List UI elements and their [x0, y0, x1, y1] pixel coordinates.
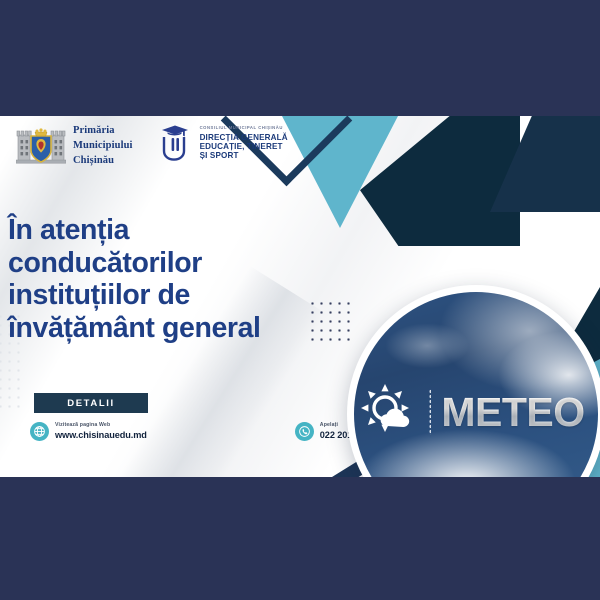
- website-contact[interactable]: Vizitează pagina Web www.chisinauedu.md: [30, 422, 147, 441]
- directia-main-text: DIRECȚIA GENERALĂ EDUCAȚIE, TINERET ȘI S…: [200, 133, 288, 160]
- primaria-line-3: Chișinău: [73, 154, 133, 169]
- phone-icon: [295, 422, 314, 441]
- directia-line-3: ȘI SPORT: [200, 151, 288, 160]
- page-title: În atenția conducătorilor instituțiilor …: [8, 214, 360, 345]
- logo-bar: Primăria Municipiului Chișinău: [16, 124, 288, 169]
- directia-logo-text: CONSILIUL MUNICIPAL CHIȘINĂU DIRECȚIA GE…: [200, 126, 288, 160]
- primaria-line-1: Primăria: [73, 124, 133, 139]
- primaria-logo: Primăria Municipiului Chișinău: [16, 124, 133, 169]
- graduation-cap-icon: [159, 124, 193, 162]
- contact-bar: Vizitează pagina Web www.chisinauedu.md …: [30, 422, 370, 441]
- headline-line-4: învățământ general: [8, 312, 360, 345]
- primaria-line-2: Municipiului: [73, 139, 133, 154]
- meteo-label: METEO: [441, 389, 584, 436]
- primaria-logo-text: Primăria Municipiului Chișinău: [73, 124, 133, 169]
- website-value: www.chisinauedu.md: [55, 430, 147, 441]
- sun-behind-cloud-icon: [359, 382, 419, 442]
- dotted-vertical-divider: [429, 389, 431, 435]
- poster-canvas: Primăria Municipiului Chișinău: [0, 0, 600, 600]
- directia-line-2: EDUCAȚIE, TINERET: [200, 142, 288, 151]
- meteo-badge[interactable]: METEO: [347, 285, 600, 477]
- website-label: Vizitează pagina Web: [55, 423, 147, 429]
- chisinau-coat-of-arms-icon: [16, 127, 66, 165]
- globe-icon: [30, 422, 49, 441]
- headline-line-2: conducătorilor: [8, 247, 360, 280]
- headline-line-1: În atenția: [8, 214, 360, 247]
- meteo-content: METEO: [359, 382, 584, 442]
- directia-logo: CONSILIUL MUNICIPAL CHIȘINĂU DIRECȚIA GE…: [159, 124, 288, 162]
- poster-card: Primăria Municipiului Chișinău: [0, 116, 600, 477]
- website-text: Vizitează pagina Web www.chisinauedu.md: [55, 423, 147, 441]
- headline-line-3: instituțiilor de: [8, 279, 360, 312]
- meteo-sky-photo: METEO: [354, 292, 598, 477]
- detalii-button[interactable]: DETALII: [34, 393, 148, 413]
- directia-line-1: DIRECȚIA GENERALĂ: [200, 133, 288, 142]
- directia-overline: CONSILIUL MUNICIPAL CHIȘINĂU: [200, 126, 288, 131]
